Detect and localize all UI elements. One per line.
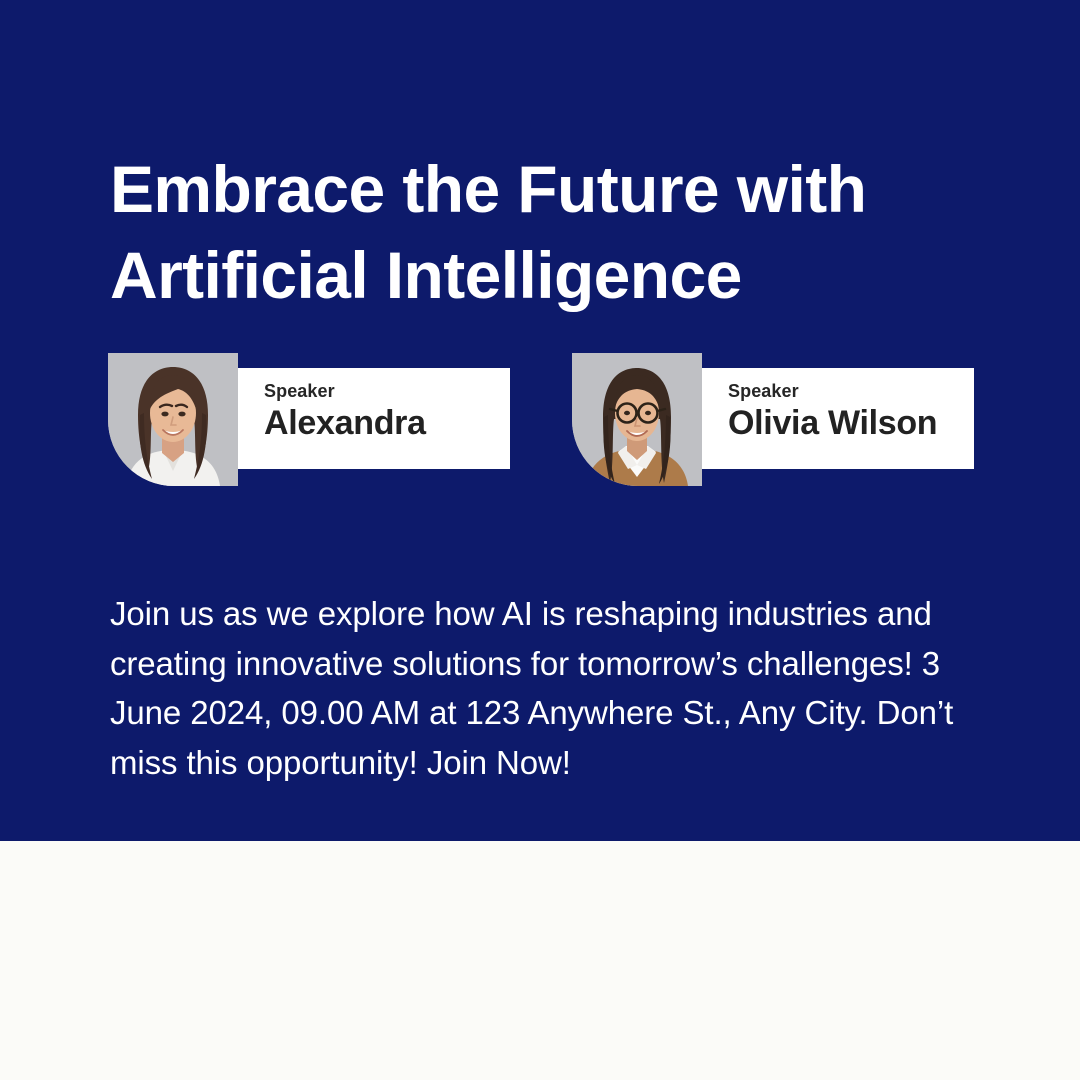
event-description: Join us as we explore how AI is reshapin… — [110, 589, 990, 787]
speaker-info: Speaker Alexandra — [238, 368, 510, 469]
avatar — [108, 353, 238, 486]
page-title: Embrace the Future with Artificial Intel… — [110, 147, 1010, 319]
speaker-card[interactable]: Speaker Alexandra — [108, 353, 510, 486]
speaker-info: Speaker Olivia Wilson — [702, 368, 974, 469]
event-poster: Embrace the Future with Artificial Intel… — [0, 0, 1080, 1080]
avatar — [572, 353, 702, 486]
speaker-card[interactable]: Speaker Olivia Wilson — [572, 353, 974, 486]
speaker-name: Alexandra — [264, 406, 510, 442]
speaker-name: Olivia Wilson — [728, 406, 974, 442]
speaker-role-label: Speaker — [728, 382, 974, 400]
footer: Capcut Free Registration! Follow our soc… — [0, 841, 1080, 1080]
speaker-role-label: Speaker — [264, 382, 510, 400]
speaker-list: Speaker Alexandra — [108, 353, 974, 488]
